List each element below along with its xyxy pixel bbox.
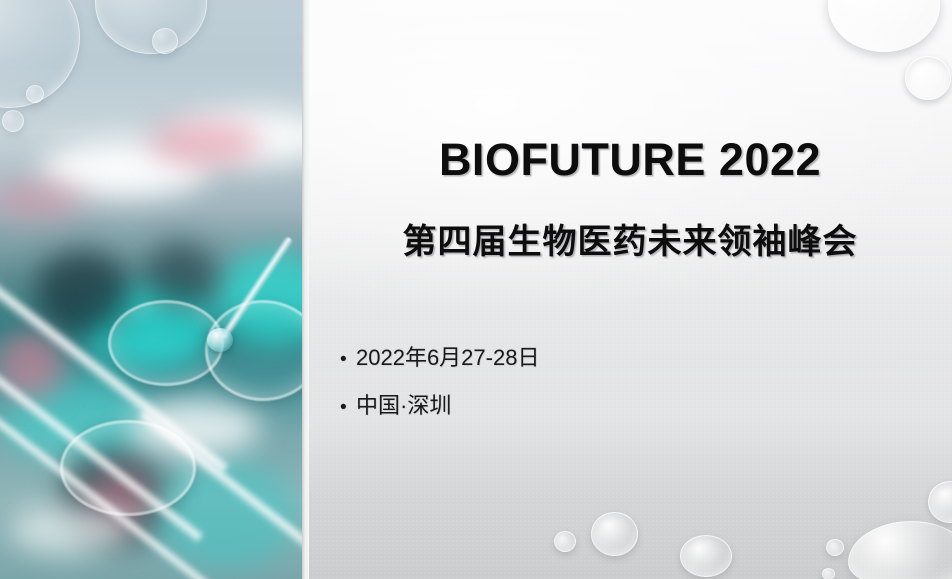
page-title: BIOFUTURE 2022 [330,134,930,186]
photo-panel-border [302,0,309,579]
photo-bubble-small-1 [152,28,178,54]
event-date-text: 2022年6月27-28日 [356,340,539,372]
water-droplet-right-edge [928,481,952,523]
laboratory-photo-panel [0,0,302,579]
photo-blob-dark-2 [145,240,215,310]
presentation-slide: BIOFUTURE 2022 第四届生物医药未来领袖峰会 • 2022年6月27… [0,0,952,579]
slide-text-column: BIOFUTURE 2022 第四届生物医药未来领袖峰会 [330,0,930,579]
photo-blob-pink-1 [150,120,260,166]
list-item: • 2022年6月27-28日 [340,340,539,372]
event-location-text: 中国·深圳 [356,388,451,420]
photo-bubble-small-2 [26,85,44,103]
bullet-marker-icon: • [340,350,356,369]
list-item: • 中国·深圳 [340,388,539,420]
photo-bubble-small-3 [2,110,24,132]
pipette-droplet [207,328,233,352]
page-subtitle: 第四届生物医药未来领袖峰会 [330,214,930,263]
event-details-list: • 2022年6月27-28日 • 中国·深圳 [340,340,539,436]
bullet-marker-icon: • [340,398,356,417]
